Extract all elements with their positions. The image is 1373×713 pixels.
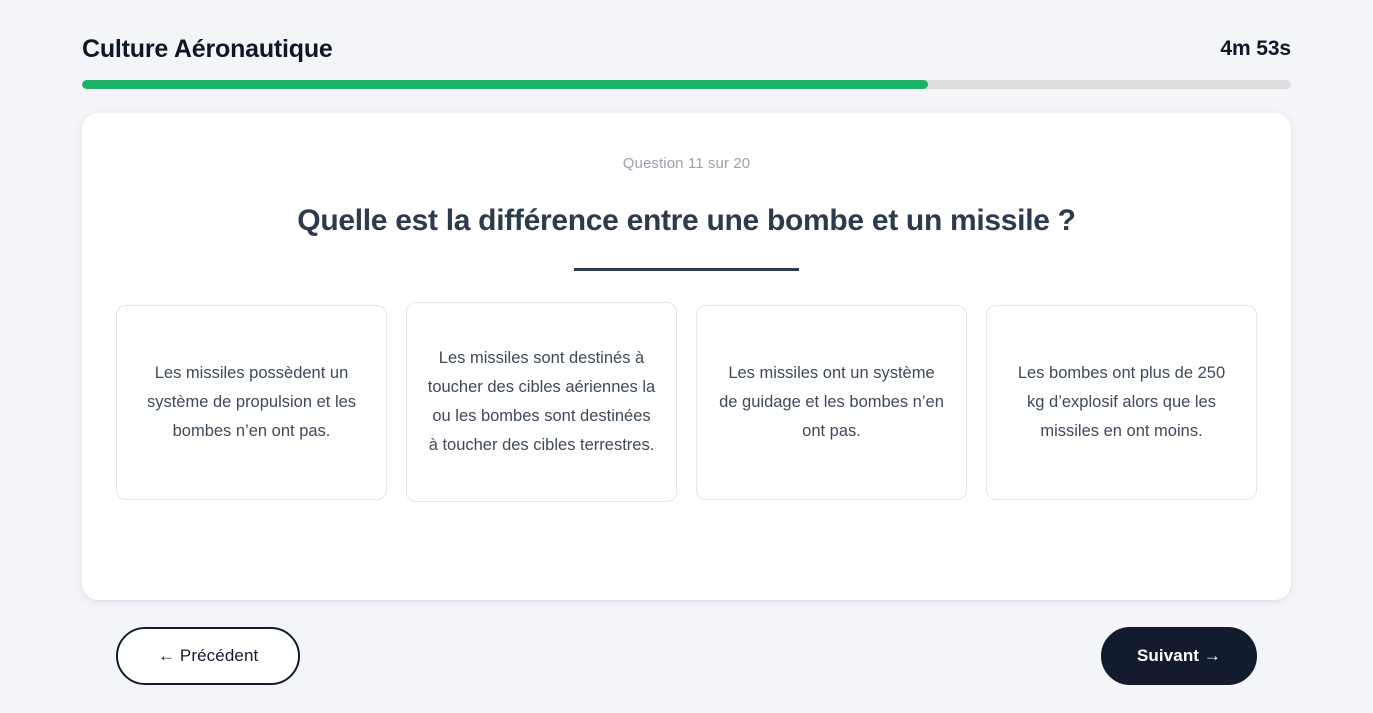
quiz-navigation: ← Précédent Suivant → bbox=[82, 627, 1291, 685]
answer-option-1[interactable]: Les missiles possèdent un système de pro… bbox=[116, 305, 387, 500]
answer-option-2[interactable]: Les missiles sont destinés à toucher des… bbox=[406, 302, 677, 502]
previous-button[interactable]: ← Précédent bbox=[116, 627, 300, 685]
answer-options-list: Les missiles possèdent un système de pro… bbox=[116, 305, 1257, 500]
question-panel: Question 11 sur 20 Quelle est la différe… bbox=[82, 113, 1291, 600]
next-button[interactable]: Suivant → bbox=[1101, 627, 1257, 685]
progress-bar bbox=[82, 80, 1291, 89]
answer-option-4[interactable]: Les bombes ont plus de 250 kg d’explosif… bbox=[986, 305, 1257, 500]
quiz-header: Culture Aéronautique 4m 53s bbox=[82, 0, 1291, 80]
quiz-page: Culture Aéronautique 4m 53s Question 11 … bbox=[0, 0, 1373, 713]
quiz-title: Culture Aéronautique bbox=[82, 35, 333, 64]
question-counter: Question 11 sur 20 bbox=[116, 155, 1257, 172]
answer-option-3[interactable]: Les missiles ont un système de guidage e… bbox=[696, 305, 967, 500]
question-divider bbox=[574, 268, 799, 271]
progress-bar-fill bbox=[82, 80, 928, 89]
question-text: Quelle est la différence entre une bombe… bbox=[116, 204, 1257, 238]
quiz-timer: 4m 53s bbox=[1220, 37, 1291, 61]
